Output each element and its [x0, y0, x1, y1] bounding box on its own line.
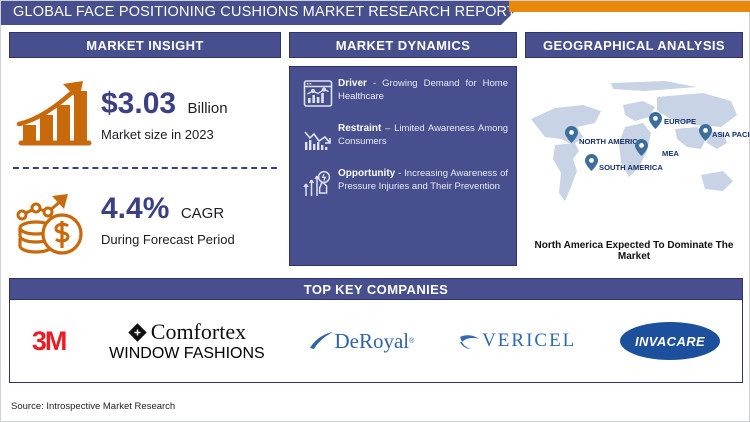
market-size-caption: Market size in 2023	[101, 127, 228, 142]
company-logo-comfortex[interactable]: Comfortex WINDOW FASHIONS	[109, 319, 265, 363]
market-dynamics-section: MARKET DYNAMICS	[289, 32, 517, 268]
map-label-north-america: NORTH AMERICA	[579, 137, 643, 146]
geographical-analysis-heading: GEOGRAPHICAL ANALYSIS	[525, 32, 743, 58]
market-size-block: $3.03 Billion Market size in 2023	[9, 72, 281, 158]
vericel-mark-icon	[458, 331, 482, 351]
bar-chart-growth-icon	[9, 77, 101, 153]
company-name-invacare: INVACARE	[635, 334, 705, 349]
dynamics-opportunity-text: Opportunity - Increasing Awareness of Pr…	[338, 167, 508, 194]
cagr-text: 4.4% CAGR During Forecast Period	[101, 194, 235, 247]
page-title: GLOBAL FACE POSITIONING CUSHIONS MARKET …	[13, 4, 516, 20]
cagr-caption: During Forecast Period	[101, 232, 235, 247]
company-logo-3m[interactable]: 3M	[32, 326, 66, 357]
market-dynamics-body: Driver - Growing Demand for Home Healthc…	[289, 66, 517, 266]
company-logo-deroyal[interactable]: DeRoyal ®	[308, 329, 414, 354]
market-size-value: $3.03	[101, 87, 176, 120]
dynamics-driver-label: Driver	[338, 78, 367, 89]
analytics-window-icon	[298, 77, 338, 109]
dynamics-restraint-text: Restraint – Limited Awareness Among Cons…	[338, 122, 508, 149]
map-pin-north-america[interactable]	[565, 126, 578, 143]
dynamics-item-driver: Driver - Growing Demand for Home Healthc…	[298, 77, 508, 109]
dynamics-opportunity-dash: -	[398, 168, 401, 179]
accent-bar	[509, 1, 750, 12]
market-size-text: $3.03 Billion Market size in 2023	[101, 89, 228, 142]
dynamics-item-opportunity: Opportunity - Increasing Awareness of Pr…	[298, 167, 508, 199]
company-logo-invacare[interactable]: INVACARE	[620, 322, 720, 360]
market-dynamics-heading: MARKET DYNAMICS	[289, 32, 517, 58]
dynamics-driver-dash: -	[373, 78, 376, 89]
map-label-south-america: SOUTH AMERICA	[599, 163, 663, 172]
company-name-vericel: VERICEL	[482, 330, 576, 352]
market-insight-heading: MARKET INSIGHT	[9, 32, 281, 58]
invacare-ellipse: INVACARE	[620, 322, 720, 360]
world-map-graphic	[525, 66, 743, 234]
insight-divider	[13, 167, 277, 169]
top-key-companies-heading: TOP KEY COMPANIES	[9, 278, 743, 300]
dynamics-driver-text: Driver - Growing Demand for Home Healthc…	[338, 77, 508, 104]
dynamics-restraint-dash: –	[385, 123, 390, 134]
comfortex-tagline: WINDOW FASHIONS	[109, 345, 265, 363]
map-pin-asia-pacific[interactable]	[699, 124, 712, 141]
company-name-3m: 3M	[32, 326, 66, 357]
market-size-unit: Billion	[188, 100, 228, 117]
cagr-value: 4.4%	[101, 192, 169, 225]
dynamics-restraint-label: Restraint	[338, 123, 381, 134]
comfortex-wordmark: Comfortex	[128, 319, 246, 345]
comfortex-diamond-icon	[128, 323, 147, 342]
company-logo-row: 3M Comfortex WINDOW FASHIONS DeR	[9, 300, 743, 383]
market-insight-section: MARKET INSIGHT $3.03 Billion Mar	[9, 32, 281, 268]
top-key-companies-section: TOP KEY COMPANIES 3M Comfortex WINDOW FA…	[9, 278, 743, 383]
world-map: NORTH AMERICA EUROPE ASIA PACIFIC MEA SO…	[525, 66, 743, 234]
geographical-analysis-section: GEOGRAPHICAL ANALYSIS	[525, 32, 743, 268]
cagr-unit: CAGR	[181, 205, 224, 222]
deroyal-swoosh-icon	[308, 331, 334, 351]
dynamics-opportunity-label: Opportunity	[338, 168, 395, 179]
coins-growth-icon	[9, 184, 101, 256]
title-banner: GLOBAL FACE POSITIONING CUSHIONS MARKET …	[1, 1, 525, 25]
map-label-asia-pacific: ASIA PACIFIC	[712, 130, 750, 139]
map-pin-mea[interactable]	[635, 139, 648, 156]
geographical-caption: North America Expected To Dominate The M…	[525, 240, 743, 262]
company-name-deroyal: DeRoyal	[334, 329, 409, 354]
map-label-europe: EUROPE	[664, 117, 696, 126]
map-pin-europe[interactable]	[649, 112, 662, 129]
company-logo-vericel[interactable]: VERICEL	[458, 330, 576, 352]
company-name-comfortex: Comfortex	[151, 319, 246, 345]
source-note: Source: Introspective Market Research	[11, 401, 175, 412]
infographic-page: GLOBAL FACE POSITIONING CUSHIONS MARKET …	[0, 0, 750, 422]
declining-chart-icon	[298, 122, 338, 154]
cagr-block: 4.4% CAGR During Forecast Period	[9, 181, 281, 259]
dynamics-item-restraint: Restraint – Limited Awareness Among Cons…	[298, 122, 508, 154]
map-pin-south-america[interactable]	[585, 154, 598, 171]
map-label-mea: MEA	[662, 149, 679, 158]
opportunity-arrows-icon	[298, 167, 338, 199]
